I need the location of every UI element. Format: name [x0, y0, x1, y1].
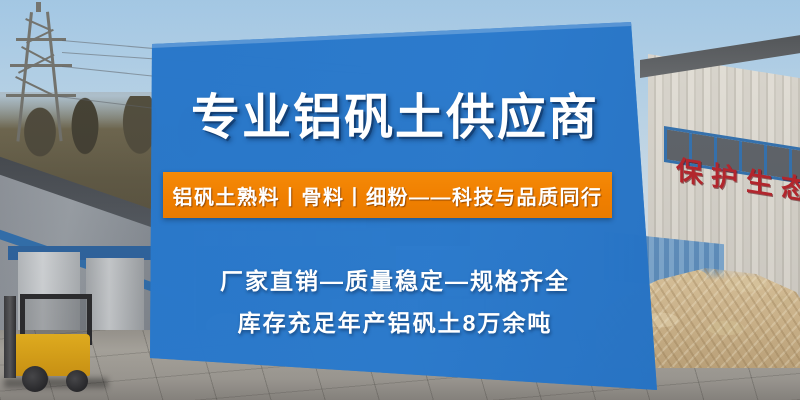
- orange-ribbon-text: 铝矾土熟料丨骨料丨细粉——科技与品质同行: [163, 172, 612, 218]
- banner-subline-2: 库存充足年产铝矾土8万余吨: [150, 304, 640, 338]
- banner-content: 专业铝矾土供应商 铝矾土熟料丨骨料丨细粉——科技与品质同行 厂家直销—质量稳定—…: [0, 0, 800, 400]
- banner-subline-1: 厂家直销—质量稳定—规格齐全: [150, 262, 640, 296]
- orange-ribbon: 铝矾土熟料丨骨料丨细粉——科技与品质同行: [163, 172, 612, 218]
- banner-headline: 专业铝矾土供应商: [150, 78, 640, 149]
- promotional-banner: 保护生态 专业铝矾土供应商 铝矾土熟料丨骨料丨细粉——科技与品质同行 厂家直销—…: [0, 0, 800, 400]
